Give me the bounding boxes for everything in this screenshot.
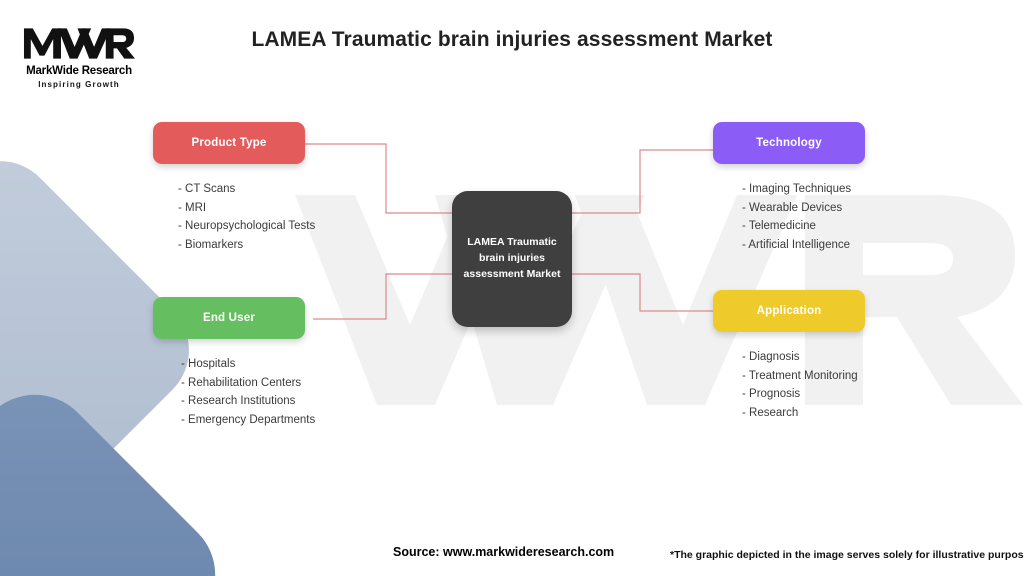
- branch-label-product-type[interactable]: Product Type: [153, 122, 305, 164]
- branch-title-text: End User: [203, 312, 255, 324]
- list-item: - Imaging Techniques: [742, 180, 865, 199]
- list-item: - Hospitals: [181, 355, 315, 374]
- branch-title-text: Application: [757, 305, 822, 317]
- branch-items-product-type: - CT Scans - MRI - Neuropsychological Te…: [178, 180, 315, 255]
- list-item: - CT Scans: [178, 180, 315, 199]
- footer-source: Source: www.markwideresearch.com: [393, 545, 614, 559]
- list-item: - Biomarkers: [178, 236, 315, 255]
- list-item: - Telemedicine: [742, 217, 865, 236]
- connector-technology: [572, 150, 713, 213]
- infographic-canvas: MarkWide Research Inspiring Growth LAMEA…: [0, 0, 1024, 576]
- branch-title-text: Technology: [756, 137, 822, 149]
- list-item: - Artificial Intelligence: [742, 236, 865, 255]
- branch-items-application: - Diagnosis - Treatment Monitoring - Pro…: [742, 348, 865, 423]
- connector-application: [572, 274, 713, 311]
- branch-product-type[interactable]: Product Type - CT Scans - MRI - Neuropsy…: [153, 122, 315, 255]
- list-item: - Research: [742, 404, 865, 423]
- branch-label-application[interactable]: Application: [713, 290, 865, 332]
- branch-technology[interactable]: Technology - Imaging Techniques - Wearab…: [713, 122, 865, 255]
- list-item: - Research Institutions: [181, 392, 315, 411]
- branch-items-technology: - Imaging Techniques - Wearable Devices …: [742, 180, 865, 255]
- connector-end-user: [313, 274, 452, 319]
- page-title: LAMEA Traumatic brain injuries assessmen…: [0, 28, 1024, 52]
- list-item: - Prognosis: [742, 385, 865, 404]
- branch-end-user[interactable]: End User - Hospitals - Rehabilitation Ce…: [153, 297, 315, 430]
- brand-tagline: Inspiring Growth: [14, 80, 144, 89]
- list-item: - Neuropsychological Tests: [178, 217, 315, 236]
- branch-label-technology[interactable]: Technology: [713, 122, 865, 164]
- list-item: - Treatment Monitoring: [742, 367, 865, 386]
- footer-disclaimer: *The graphic depicted in the image serve…: [670, 549, 1024, 561]
- brand-name: MarkWide Research: [14, 65, 144, 78]
- branch-items-end-user: - Hospitals - Rehabilitation Centers - R…: [181, 355, 315, 430]
- branch-label-end-user[interactable]: End User: [153, 297, 305, 339]
- mwr-watermark-icon: [285, 185, 1024, 415]
- center-node[interactable]: LAMEA Traumatic brain injuries assessmen…: [452, 191, 572, 327]
- connector-product-type: [305, 144, 452, 213]
- branch-application[interactable]: Application - Diagnosis - Treatment Moni…: [713, 290, 865, 423]
- list-item: - Rehabilitation Centers: [181, 374, 315, 393]
- center-node-label: LAMEA Traumatic brain injuries assessmen…: [461, 235, 563, 282]
- list-item: - Emergency Departments: [181, 411, 315, 430]
- list-item: - Diagnosis: [742, 348, 865, 367]
- branch-title-text: Product Type: [191, 137, 266, 149]
- list-item: - Wearable Devices: [742, 199, 865, 218]
- list-item: - MRI: [178, 199, 315, 218]
